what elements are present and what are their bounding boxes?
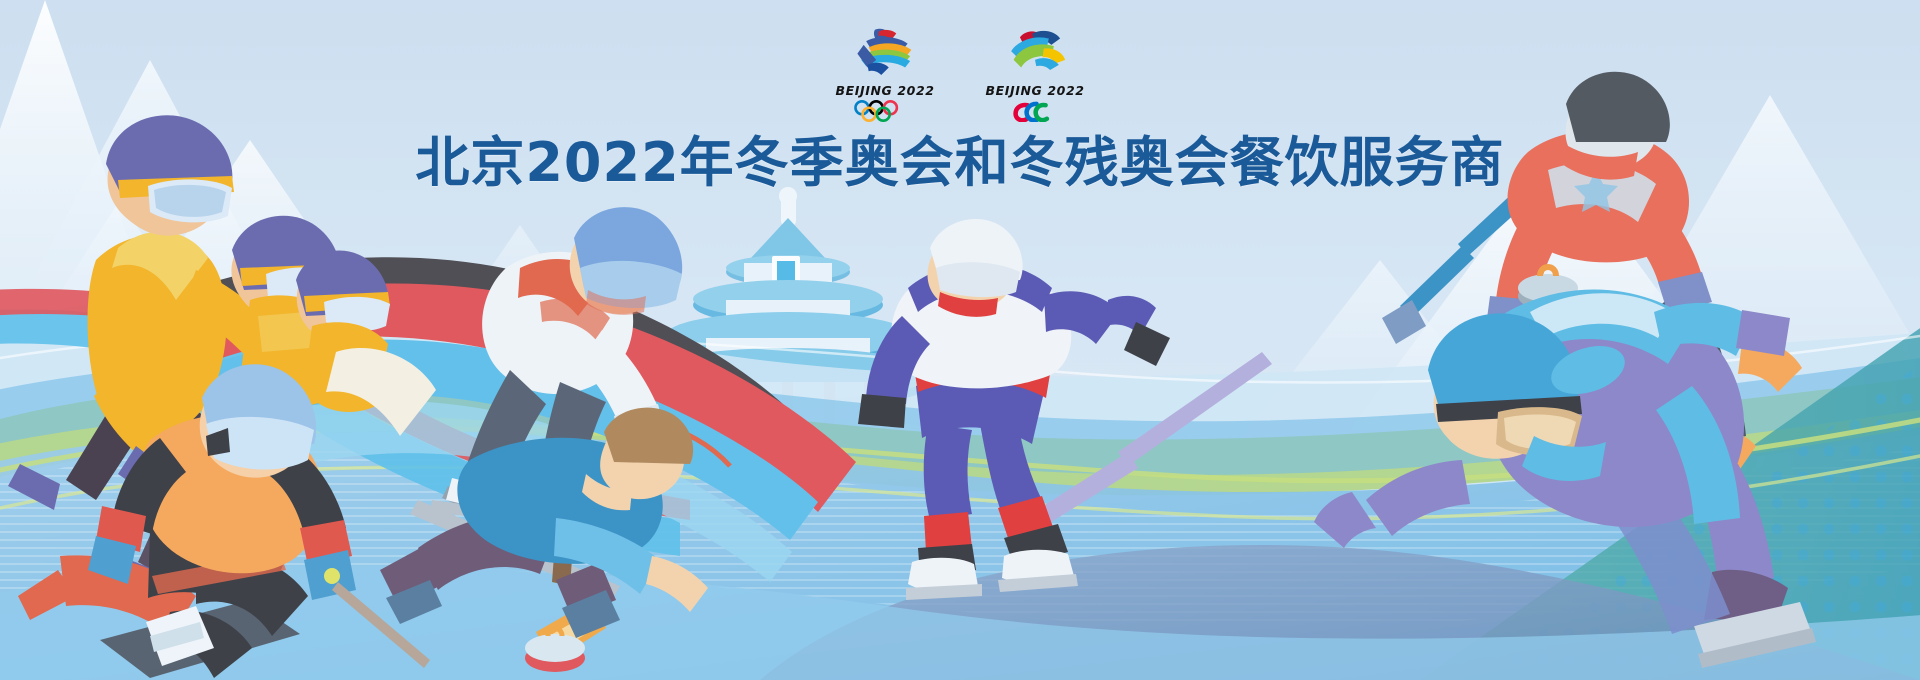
beijing-2022-banner: BEIJING 2022 BEIJING 2022 [0,0,1920,680]
olympic-emblem-unit: BEIJING 2022 [830,26,940,122]
paralympic-emblem-icon [996,26,1074,80]
olympic-emblem-icon [846,26,924,80]
athlete-speed-skater-right [1314,289,1816,668]
olympic-wordmark: BEIJING 2022 [835,83,934,98]
athlete-ice-hockey-player [858,219,1272,600]
paralympic-emblem-unit: BEIJING 2022 [980,26,1090,122]
paralympic-wordmark: BEIJING 2022 [985,83,1084,98]
page-title: 北京2022年冬季奥会和冬残奥会餐饮服务商 [0,118,1920,197]
emblem-row: BEIJING 2022 BEIJING 2022 [0,26,1920,122]
